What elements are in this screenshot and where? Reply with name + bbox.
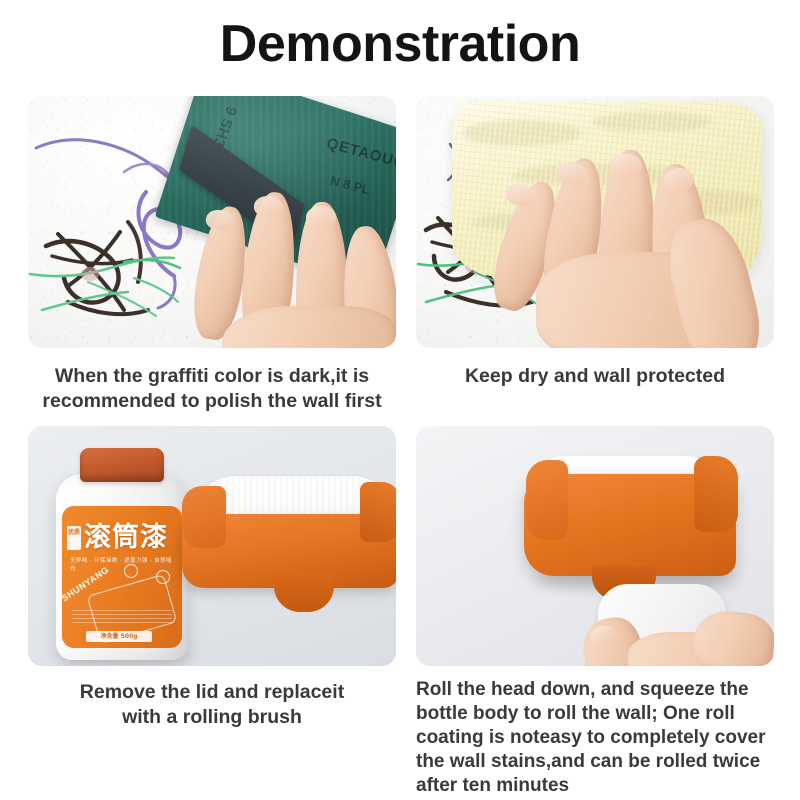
caption-line: Roll the head down, and squeeze the: [416, 678, 774, 702]
demo-step-polish-wall: QETAOUC N 8 PL 9 SH3 ※: [28, 96, 396, 436]
caption-line: When the graffiti color is dark,it is: [28, 364, 396, 389]
bottle-label: 优质 滚筒漆 无异味 · 环保涂刷 · 遮盖力强 · 自然哑光 SHUNYANG…: [62, 506, 182, 648]
label-product-name: 滚筒漆: [84, 524, 168, 551]
photo-replace-lid: 优质 滚筒漆 无异味 · 环保涂刷 · 遮盖力强 · 自然哑光 SHUNYANG…: [28, 426, 396, 666]
caption-line: the wall stains,and can be rolled twice: [416, 750, 774, 774]
caption-line: Keep dry and wall protected: [416, 364, 774, 389]
roller-end-cap-right: [360, 482, 396, 542]
roller-head: [178, 472, 396, 648]
caption-replace-lid: Remove the lid and replaceit with a roll…: [28, 680, 396, 730]
photo-keep-dry: [416, 96, 774, 348]
caption-polish-wall: When the graffiti color is dark,it is re…: [28, 364, 396, 414]
bottle-cap: [80, 448, 164, 482]
photo-roll-wall: [416, 426, 774, 666]
caption-line: after ten minutes: [416, 774, 774, 798]
roller-end-cap-left: [182, 486, 226, 548]
caption-roll-wall: Roll the head down, and squeeze the bott…: [416, 678, 774, 798]
page-title: Demonstration: [0, 14, 800, 74]
roller-end-cap-left: [526, 460, 568, 540]
caption-line: recommended to polish the wall first: [28, 389, 396, 414]
label-net-weight: 净含量 500g: [86, 631, 152, 642]
paint-bottle: 优质 滚筒漆 无异味 · 环保涂刷 · 遮盖力强 · 自然哑光 SHUNYANG…: [56, 448, 188, 660]
caption-line: with a rolling brush: [28, 705, 396, 730]
hand-squeezing-bottle: [584, 602, 774, 666]
label-fine-print: [72, 610, 172, 624]
roller-neck: [274, 572, 334, 612]
caption-keep-dry: Keep dry and wall protected: [416, 364, 774, 389]
sanding-block-print-1: QETAOUC: [325, 135, 396, 172]
demo-step-replace-lid: 优质 滚筒漆 无异味 · 环保涂刷 · 遮盖力强 · 自然哑光 SHUNYANG…: [28, 426, 396, 756]
roller-end-cap-right: [694, 456, 738, 532]
caption-line: bottle body to roll the wall; One roll: [416, 702, 774, 726]
label-icon-circle-2: [156, 570, 170, 584]
demo-panel-grid: QETAOUC N 8 PL 9 SH3 ※: [0, 96, 800, 800]
hand-wiping-cloth: [500, 128, 750, 346]
caption-line: coating is noteasy to completely cover: [416, 726, 774, 750]
hand-holding-block: [192, 186, 396, 348]
label-icon-circle-1: [124, 564, 138, 578]
caption-line: Remove the lid and replaceit: [28, 680, 396, 705]
photo-polish-wall: QETAOUC N 8 PL 9 SH3 ※: [28, 96, 396, 348]
label-brand-tag: 优质: [67, 526, 81, 550]
demo-step-keep-dry: Keep dry and wall protected: [416, 96, 774, 436]
demo-step-roll-wall: Roll the head down, and squeeze the bott…: [416, 426, 774, 756]
demonstration-infographic: Demonstration: [0, 0, 800, 800]
